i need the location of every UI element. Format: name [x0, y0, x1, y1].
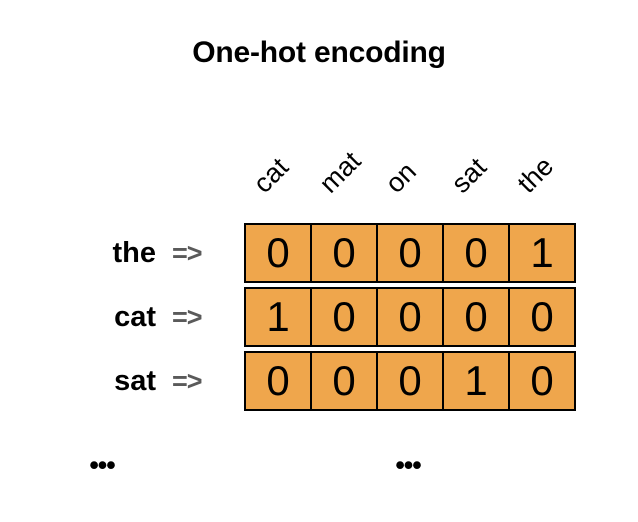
matrix-cell: 0	[378, 289, 444, 345]
maps-to-arrow-icon: =>	[172, 240, 230, 267]
matrix-cell: 1	[444, 353, 510, 409]
row-label-cat: cat =>	[0, 287, 230, 347]
one-hot-encoding-figure: One-hot encoding cat mat on sat the the …	[0, 0, 638, 522]
column-header-cat: cat	[244, 120, 310, 200]
column-header-row: cat mat on sat the	[244, 120, 576, 200]
column-header-mat: mat	[310, 120, 376, 200]
column-header-label: the	[513, 152, 559, 198]
matrix-cell: 0	[246, 353, 312, 409]
column-header-the: the	[508, 120, 574, 200]
matrix-cell: 0	[246, 225, 312, 281]
row-word: sat	[114, 367, 156, 396]
row-label-the: the =>	[0, 223, 230, 283]
matrix-cell: 0	[378, 225, 444, 281]
maps-to-arrow-icon: =>	[172, 368, 230, 395]
matrix-continuation-ellipsis: •••	[378, 452, 438, 479]
column-header-sat: sat	[442, 120, 508, 200]
maps-to-arrow-icon: =>	[172, 304, 230, 331]
matrix-cell: 0	[312, 353, 378, 409]
matrix-cell: 0	[510, 289, 574, 345]
matrix-cell: 0	[312, 225, 378, 281]
column-header-label: sat	[447, 153, 492, 198]
column-header-label: mat	[315, 147, 366, 198]
matrix-cell: 0	[444, 225, 510, 281]
figure-title: One-hot encoding	[0, 36, 638, 70]
matrix-cell: 1	[246, 289, 312, 345]
row-label-sat: sat =>	[0, 351, 230, 411]
matrix-cell: 0	[444, 289, 510, 345]
table-row: 0 0 0 1 0	[244, 351, 576, 411]
matrix-cell: 1	[510, 225, 574, 281]
matrix-cell: 0	[312, 289, 378, 345]
column-header-label: on	[381, 158, 421, 198]
row-word: cat	[114, 303, 156, 332]
column-header-on: on	[376, 120, 442, 200]
table-row: 0 0 0 0 1	[244, 223, 576, 283]
row-word: the	[113, 239, 157, 268]
table-row: 1 0 0 0 0	[244, 287, 576, 347]
matrix-cell: 0	[510, 353, 574, 409]
rows-continuation-ellipsis: •••	[72, 452, 132, 479]
matrix-cell: 0	[378, 353, 444, 409]
column-header-label: cat	[249, 153, 294, 198]
